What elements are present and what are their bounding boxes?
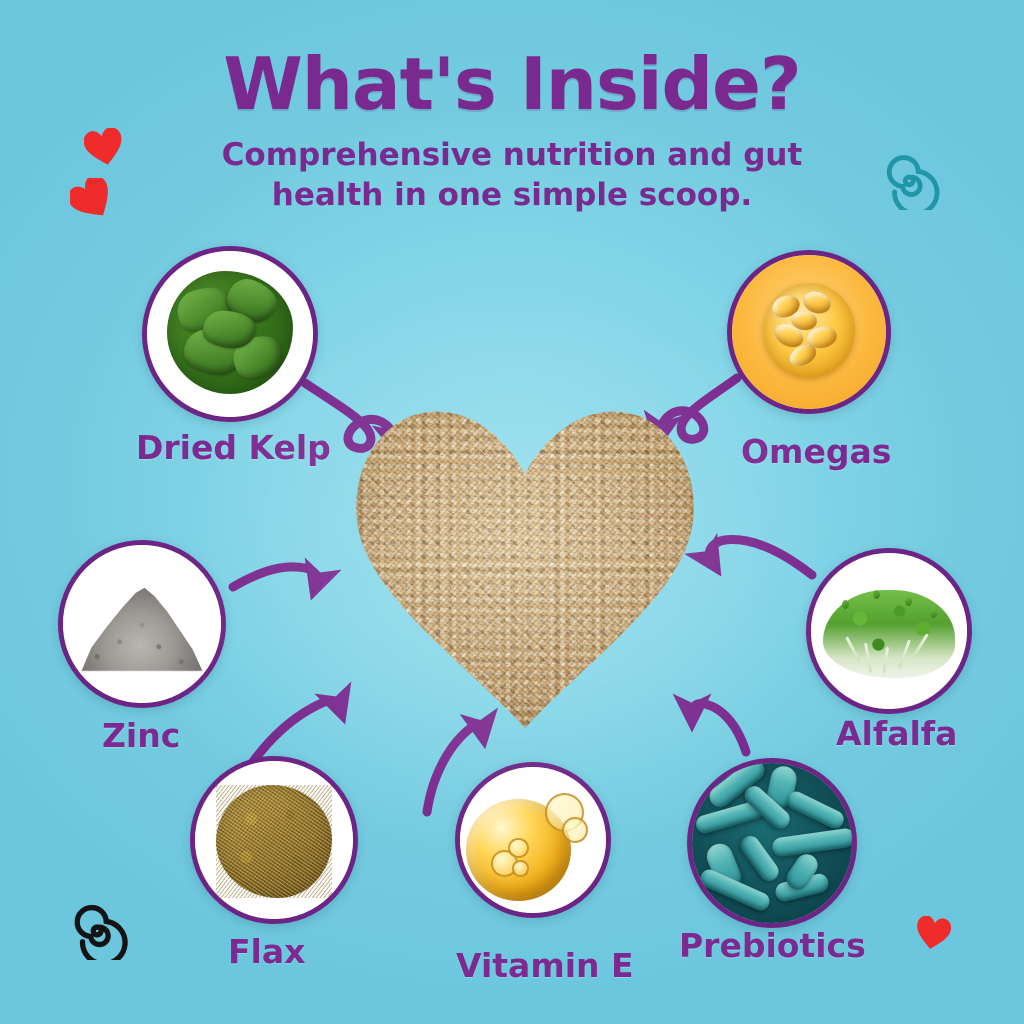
ingredient-label-dried-kelp: Dried Kelp [136, 428, 331, 467]
ingredient-circle-flax[interactable] [190, 756, 358, 924]
omegas-image [763, 283, 855, 378]
heart-icon [84, 128, 124, 166]
flax-image [216, 785, 333, 899]
subtitle-line-2: health in one simple scoop. [192, 176, 832, 216]
subtitle-line-1: Comprehensive nutrition and gut [192, 136, 832, 176]
spiral-icon [72, 902, 130, 960]
ingredient-label-omegas: Omegas [741, 432, 891, 471]
ingredient-label-vitamin-e: Vitamin E [456, 946, 634, 985]
spiral-icon [884, 152, 942, 210]
heart-icon [915, 916, 951, 950]
ingredient-circle-alfalfa[interactable] [806, 548, 972, 714]
ingredient-label-alfalfa: Alfalfa [836, 714, 957, 753]
center-heart-powder [352, 398, 698, 728]
ingredient-circle-dried-kelp[interactable] [142, 246, 318, 422]
ingredient-circle-vitamin-e[interactable] [455, 762, 611, 918]
ingredient-label-flax: Flax [228, 932, 305, 971]
ingredient-circle-zinc[interactable] [58, 540, 226, 708]
page-subtitle: Comprehensive nutrition and gut health i… [192, 136, 832, 215]
ingredient-label-prebiotics: Prebiotics [679, 926, 866, 965]
heart-icon [70, 178, 114, 220]
ingredient-circle-omegas[interactable] [727, 250, 891, 414]
arrow-zinc [233, 567, 317, 587]
infographic-canvas: What's Inside? Comprehensive nutrition a… [0, 0, 1024, 1024]
ingredient-circle-prebiotics[interactable] [687, 758, 857, 928]
arrow-alfalfa [709, 540, 812, 575]
ingredient-label-zinc: Zinc [102, 716, 180, 755]
heart-powder-edge [352, 398, 698, 728]
page-title: What's Inside? [0, 42, 1024, 126]
arrow-prebiotics [692, 703, 746, 752]
